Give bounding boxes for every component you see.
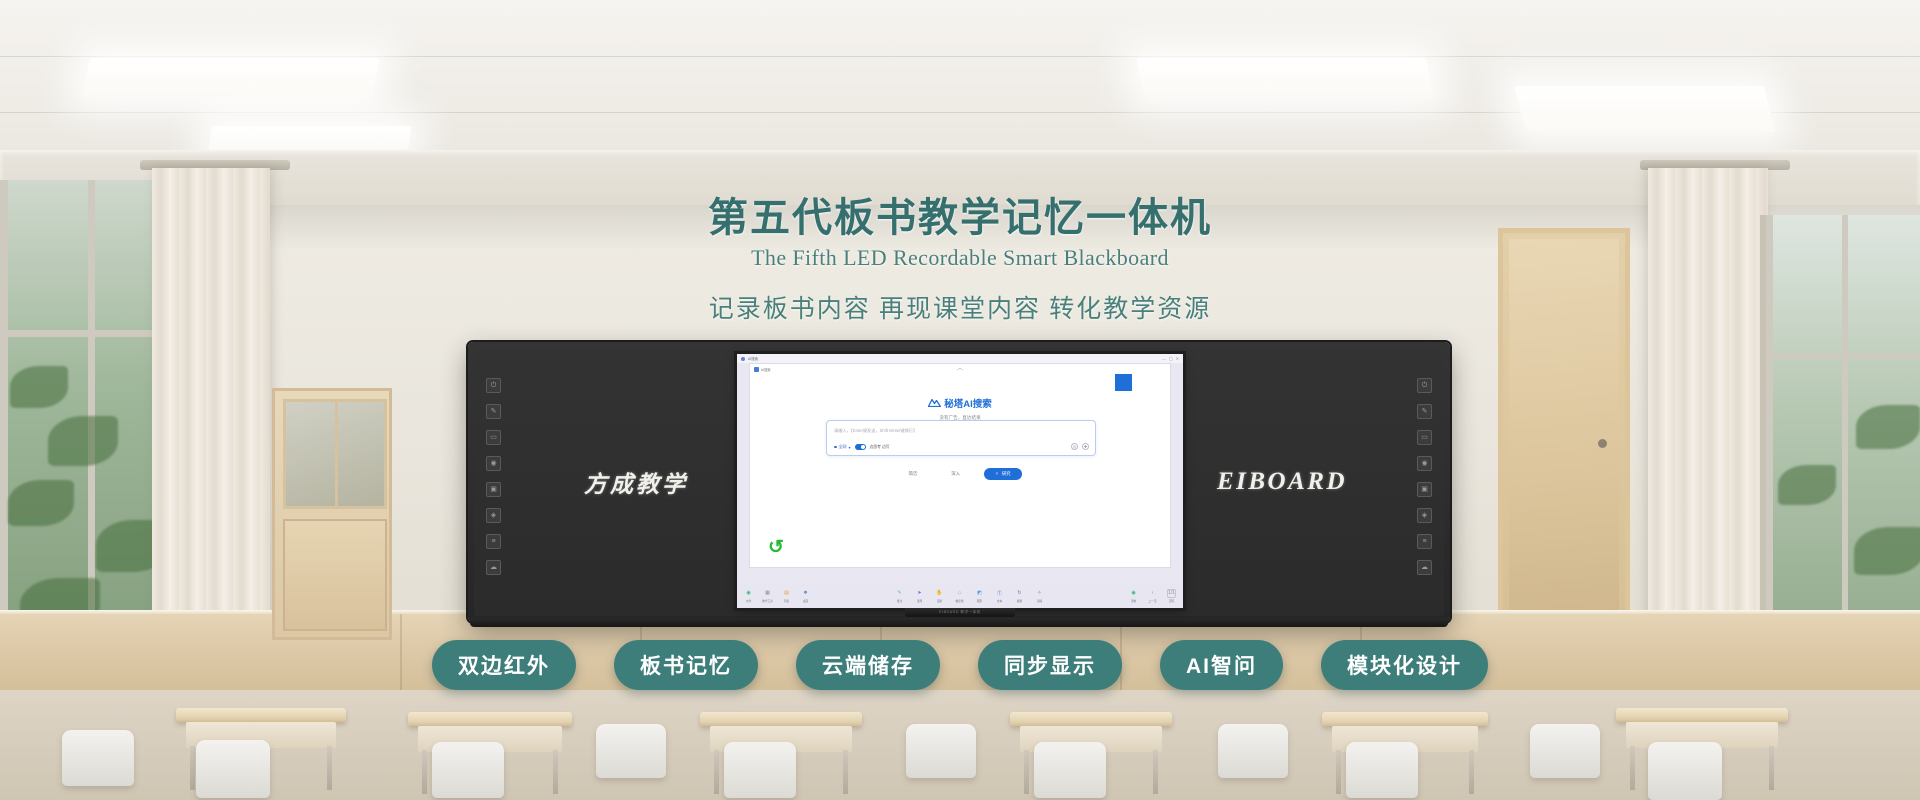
scope-dot-icon [834, 446, 837, 449]
student-chair [196, 740, 270, 798]
screen-window-titlebar[interactable]: AI搜索 — ▢ ✕ [737, 354, 1183, 363]
rail-button-cloud[interactable]: ☁ [1417, 560, 1432, 575]
ceiling-light [1514, 86, 1776, 132]
brand-block: 秘塔AI搜索 没有广告，直达结果 [750, 394, 1170, 421]
student-chair [1218, 724, 1288, 778]
taskbar-item[interactable]: ❖ 桌面 [799, 589, 812, 603]
rail-button-eraser[interactable]: ▭ [1417, 430, 1432, 445]
student-chair [1648, 742, 1722, 800]
student-chair [1034, 742, 1106, 798]
attach-icon[interactable]: ✚ [1082, 443, 1089, 450]
chevron-up-icon[interactable]: ︿ [957, 366, 963, 372]
mode-button-simple[interactable]: 简洁 [898, 469, 927, 479]
feature-pill-row: 双边红外 板书记忆 云端储存 同步显示 AI智问 模块化设计 [0, 640, 1920, 690]
taskbar-item[interactable]: ▦ 教学工具 [761, 589, 774, 603]
record-icon: ◉ [744, 589, 753, 598]
chevron-down-icon: ▾ [849, 445, 851, 450]
feature-pill-board-memory[interactable]: 板书记忆 [614, 640, 758, 690]
cursor-icon: ➤ [915, 589, 924, 598]
rail-button-save[interactable]: ◈ [1417, 508, 1432, 523]
rail-button-record[interactable]: ◉ [486, 456, 501, 471]
mountain-icon [928, 398, 941, 407]
metaso-logo: 秘塔AI搜索 [928, 396, 992, 410]
ceiling-light [82, 58, 380, 98]
taskbar-item[interactable]: ✧ 清除 [1033, 589, 1046, 603]
taskbar-item[interactable]: ✋ 漫游 [933, 589, 946, 603]
taskbar-item-label: 漫游 [933, 599, 946, 603]
wall-cabinet [272, 388, 392, 640]
ceiling-light [1136, 58, 1434, 98]
right-chalk-panel[interactable]: EIBOARD [1160, 356, 1404, 608]
mode-button-deep[interactable]: 深入 [941, 469, 970, 479]
tab-title: AI搜索 [761, 367, 771, 372]
rail-button-pen[interactable]: ✎ [486, 404, 501, 419]
taskbar-item-label: 文件 [742, 599, 755, 603]
taskbar-item-label: 桌面 [799, 599, 812, 603]
rail-button-pen[interactable]: ✎ [1417, 404, 1432, 419]
page-icon: 1/1 [1167, 589, 1176, 598]
scope-selector[interactable]: 全网 ▾ [834, 444, 851, 450]
undo-icon: ↻ [1015, 589, 1024, 598]
browser-page[interactable]: AI搜索 ︿ 秘塔AI搜索 没有广告，直达结果 请输入，【Enter键发送，Sh… [749, 363, 1171, 568]
taskbar-item-label: 批注 [893, 599, 906, 603]
clear-icon: ✧ [1035, 589, 1044, 598]
taskbar-item[interactable]: ◇ 橡皮擦 [953, 589, 966, 603]
camera-icon[interactable]: ◎ [1071, 443, 1078, 450]
close-icon[interactable]: ✕ [1176, 356, 1179, 361]
toggle-label: 边思考 边写 [870, 445, 890, 450]
list-icon: ▤ [782, 589, 791, 598]
taskbar-item-label: 橡皮擦 [953, 599, 966, 603]
taskbar-right-group[interactable]: ◉ 录制 ‹ 上一页 1/1 页码 [1127, 589, 1178, 603]
tab-favicon-icon [754, 367, 759, 372]
taskbar-item-label: 页码 [1165, 599, 1178, 603]
hand-icon: ✋ [935, 589, 944, 598]
ceiling-seam [0, 56, 1920, 57]
rail-button-power[interactable]: ⏻ [486, 378, 501, 393]
stand-brand-text: EIBOARD 教学一体机 [939, 610, 981, 615]
rail-button-power[interactable]: ⏻ [1417, 378, 1432, 393]
taskbar-item[interactable]: ▤ 列表 [780, 589, 793, 603]
feature-pill-modular-design[interactable]: 模块化设计 [1321, 640, 1488, 690]
scope-label: 全网 [839, 444, 847, 450]
blackboard-base [470, 618, 1448, 627]
rail-button-menu[interactable]: ≡ [1417, 534, 1432, 549]
grid-icon: ▦ [763, 589, 772, 598]
taskbar-item[interactable]: ➤ 选择 [913, 589, 926, 603]
feature-pill-dual-infrared[interactable]: 双边红外 [432, 640, 576, 690]
taskbar-item-label: 上一页 [1146, 599, 1159, 603]
rail-button-cloud[interactable]: ☁ [486, 560, 501, 575]
center-display-screen[interactable]: AI搜索 — ▢ ✕ AI搜索 ︿ 秘塔AI搜索 没有广告，直达结果 请输入，【… [737, 354, 1183, 608]
headline-tagline: 记录板书内容 再现课堂内容 转化教学资源 [0, 289, 1920, 325]
taskbar-item-label: 录制 [1127, 599, 1140, 603]
undo-annotation-icon: ↺ [768, 538, 784, 557]
search-placeholder: 请输入，【Enter键发送，Shift+Enter键换行】 [834, 428, 917, 434]
taskbar-item-label: 列表 [780, 599, 793, 603]
headline-title-en: The Fifth LED Recordable Smart Blackboar… [0, 245, 1920, 271]
apps-icon: ❖ [801, 589, 810, 598]
rail-button-save[interactable]: ◈ [486, 508, 501, 523]
student-chair [62, 730, 134, 786]
taskbar-item-label: 教学工具 [761, 599, 774, 603]
feature-pill-cloud-storage[interactable]: 云端储存 [796, 640, 940, 690]
student-chair [596, 724, 666, 778]
text-icon: Ⓣ [995, 589, 1004, 598]
taskbar-item[interactable]: ◉ 录制 [1127, 589, 1140, 603]
taskbar-item-label: 选择 [913, 599, 926, 603]
taskbar-item[interactable]: ‹ 上一页 [1146, 589, 1159, 603]
sparkle-icon: ✧ [995, 471, 999, 477]
eraser-icon: ◇ [955, 589, 964, 598]
taskbar-center-group[interactable]: ✎ 批注 ➤ 选择 ✋ 漫游 ◇ 橡皮擦 ◩ 图形 Ⓣ 文本 [893, 589, 1046, 603]
thinking-toggle[interactable] [855, 444, 866, 450]
left-control-rail[interactable]: ⏻ ✎ ▭ ◉ ▣ ◈ ≡ ☁ [486, 378, 501, 586]
left-chalk-panel[interactable]: 方成教学 [514, 356, 758, 608]
rail-button-menu[interactable]: ≡ [486, 534, 501, 549]
minimize-icon[interactable]: — [1162, 356, 1166, 361]
taskbar-item[interactable]: 1/1 页码 [1165, 589, 1178, 603]
brand-name: 秘塔AI搜索 [944, 396, 992, 410]
page-tab-chip[interactable]: AI搜索 [754, 367, 771, 372]
door-knob [1598, 439, 1607, 448]
left-panel-chalk-text: 方成教学 [584, 465, 688, 499]
search-input-box[interactable]: 请输入，【Enter键发送，Shift+Enter键换行】 全网 ▾ 边思考 边… [826, 420, 1096, 456]
taskbar-item[interactable]: ◉ 文件 [742, 589, 755, 603]
window-title: AI搜索 [748, 356, 758, 361]
shapes-icon: ◩ [975, 589, 984, 598]
taskbar-item-label: 文本 [993, 599, 1006, 603]
taskbar-item[interactable]: ◩ 图形 [973, 589, 986, 603]
student-chair [1530, 724, 1600, 778]
taskbar-item[interactable]: Ⓣ 文本 [993, 589, 1006, 603]
student-chair [906, 724, 976, 778]
taskbar-item[interactable]: ✎ 批注 [893, 589, 906, 603]
mode-button-research[interactable]: ✧ 研究 [984, 468, 1021, 480]
chevron-left-icon: ‹ [1148, 589, 1157, 598]
right-panel-chalk-text: EIBOARD [1217, 468, 1347, 496]
feature-pill-sync-display[interactable]: 同步显示 [978, 640, 1122, 690]
display-stand-label: EIBOARD 教学一体机 [905, 608, 1015, 617]
taskbar-item[interactable]: ↻ 撤销 [1013, 589, 1026, 603]
right-control-rail[interactable]: ⏻ ✎ ▭ ◉ ▣ ◈ ≡ ☁ [1417, 378, 1432, 586]
mode-button-row[interactable]: 简洁 深入 ✧ 研究 [750, 468, 1170, 480]
page-headline: 第五代板书教学记忆一体机 The Fifth LED Recordable Sm… [0, 196, 1920, 325]
taskbar-item-label: 撤销 [1013, 599, 1026, 603]
rail-button-record[interactable]: ◉ [1417, 456, 1432, 471]
rail-button-eraser[interactable]: ▭ [486, 430, 501, 445]
headline-title-cn: 第五代板书教学记忆一体机 [0, 196, 1920, 241]
taskbar-item-label: 图形 [973, 599, 986, 603]
blue-marker-square [1115, 374, 1132, 391]
ceiling-light [208, 126, 412, 150]
window-icon [741, 357, 745, 361]
student-chair [432, 742, 504, 798]
rail-button-image[interactable]: ▣ [1417, 482, 1432, 497]
pen-icon: ✎ [895, 589, 904, 598]
screen-taskbar[interactable]: ◉ 文件 ▦ 教学工具 ▤ 列表 ❖ 桌面 ✎ 批注 ➤ 选择 [737, 583, 1183, 608]
rail-button-image[interactable]: ▣ [486, 482, 501, 497]
mode-button-research-label: 研究 [1002, 471, 1011, 477]
taskbar-left-group[interactable]: ◉ 文件 ▦ 教学工具 ▤ 列表 ❖ 桌面 [742, 589, 812, 603]
maximize-icon[interactable]: ▢ [1169, 356, 1173, 361]
feature-pill-ai-ask[interactable]: AI智问 [1160, 640, 1283, 690]
taskbar-item-label: 清除 [1033, 599, 1046, 603]
record-dot-icon: ◉ [1129, 589, 1138, 598]
student-chair [1346, 742, 1418, 798]
student-chair [724, 742, 796, 798]
